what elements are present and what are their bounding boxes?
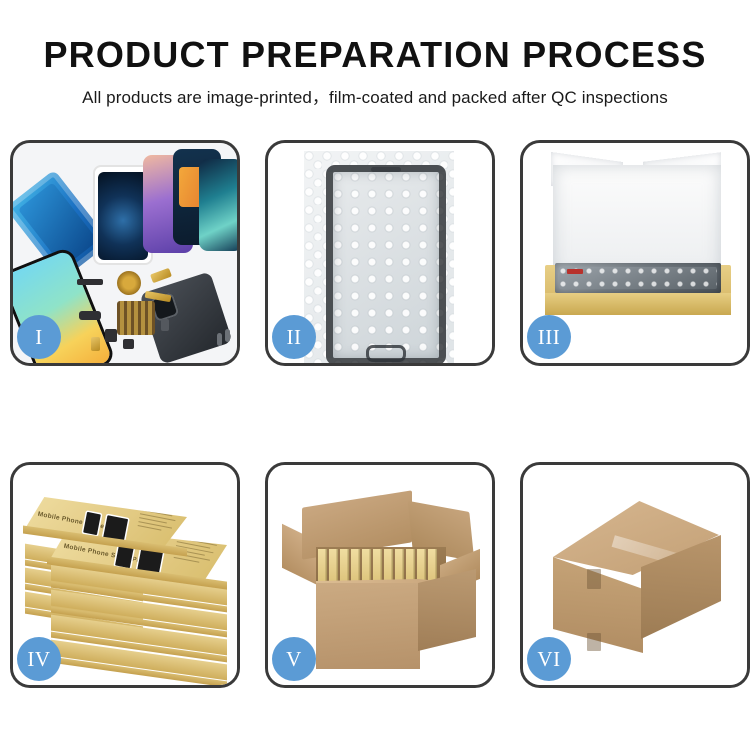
step-badge-4: IV bbox=[17, 637, 61, 681]
home-button-outline bbox=[366, 345, 406, 362]
earpiece-slot bbox=[371, 167, 401, 172]
step-badge-5: V bbox=[272, 637, 316, 681]
chip-array-component bbox=[117, 301, 155, 335]
bubble-wrap-sheet bbox=[304, 151, 454, 363]
flex-cable-3 bbox=[91, 337, 100, 351]
screw-component-2 bbox=[225, 329, 230, 342]
kraft-tray-front bbox=[545, 293, 731, 315]
small-chip-3 bbox=[105, 329, 117, 342]
step-panel-2[interactable]: II bbox=[265, 140, 495, 366]
small-chip-2 bbox=[79, 311, 101, 320]
step-panel-6[interactable]: VI bbox=[520, 462, 750, 688]
step-panel-3[interactable]: III bbox=[520, 140, 750, 366]
button-component bbox=[161, 319, 169, 331]
page-title: PRODUCT PREPARATION PROCESS bbox=[0, 34, 750, 76]
red-marking bbox=[567, 269, 583, 274]
page-subtitle: All products are image-printed，film-coat… bbox=[0, 83, 750, 108]
carton-hand-slot-bottom bbox=[587, 633, 601, 651]
step-badge-2: II bbox=[272, 315, 316, 359]
screw-component-1 bbox=[217, 333, 222, 346]
step-badge-3: III bbox=[527, 315, 571, 359]
small-chip-1 bbox=[77, 279, 103, 285]
page-header: PRODUCT PREPARATION PROCESS All products… bbox=[0, 0, 750, 108]
carton-front-face bbox=[316, 583, 420, 669]
carton-right-face bbox=[418, 569, 476, 651]
step-panel-1[interactable]: I bbox=[10, 140, 240, 366]
box-spec-lines-1 bbox=[137, 505, 181, 536]
step-badge-6: VI bbox=[527, 637, 571, 681]
carton-hand-slot-top bbox=[587, 569, 601, 589]
step-badge-1: I bbox=[17, 315, 61, 359]
packed-screen bbox=[555, 263, 721, 293]
process-step-grid: I II III bbox=[10, 140, 740, 688]
box-product-image-1a bbox=[83, 512, 101, 535]
small-chip-4 bbox=[123, 339, 134, 349]
coil-component bbox=[117, 271, 141, 295]
step-panel-5[interactable]: V bbox=[265, 462, 495, 688]
step-panel-4[interactable]: Mobile Phone Spare Parts Mobile Phone Sp… bbox=[10, 462, 240, 688]
foam-backing bbox=[553, 165, 721, 275]
wrapped-screen bbox=[326, 165, 446, 363]
teal-phone-part bbox=[199, 159, 237, 251]
flex-cable-1 bbox=[150, 268, 172, 283]
